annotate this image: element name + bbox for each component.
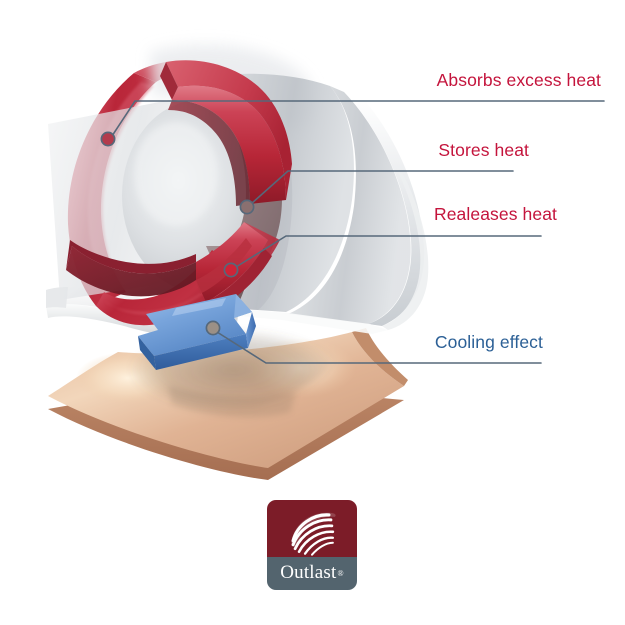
callout-marker-cooling [206, 321, 219, 334]
callout-marker-stores [240, 200, 253, 213]
callout-label-stores: Stores heat [438, 142, 529, 160]
infographic-canvas: Absorbs excess heat Stores heat Realease… [0, 0, 625, 625]
logo-wordmark: Outlast® [267, 557, 357, 590]
callout-label-absorbs: Absorbs excess heat [437, 72, 601, 90]
swoosh-icon [267, 500, 357, 557]
callout-label-release: Realeases heat [434, 206, 557, 224]
registered-mark: ® [338, 569, 344, 578]
logo-brand-text: Outlast [280, 562, 336, 584]
callout-marker-release [224, 263, 237, 276]
callout-marker-absorbs [101, 132, 114, 145]
outlast-logo: Outlast® [267, 500, 357, 590]
callout-label-cooling: Cooling effect [435, 334, 543, 352]
